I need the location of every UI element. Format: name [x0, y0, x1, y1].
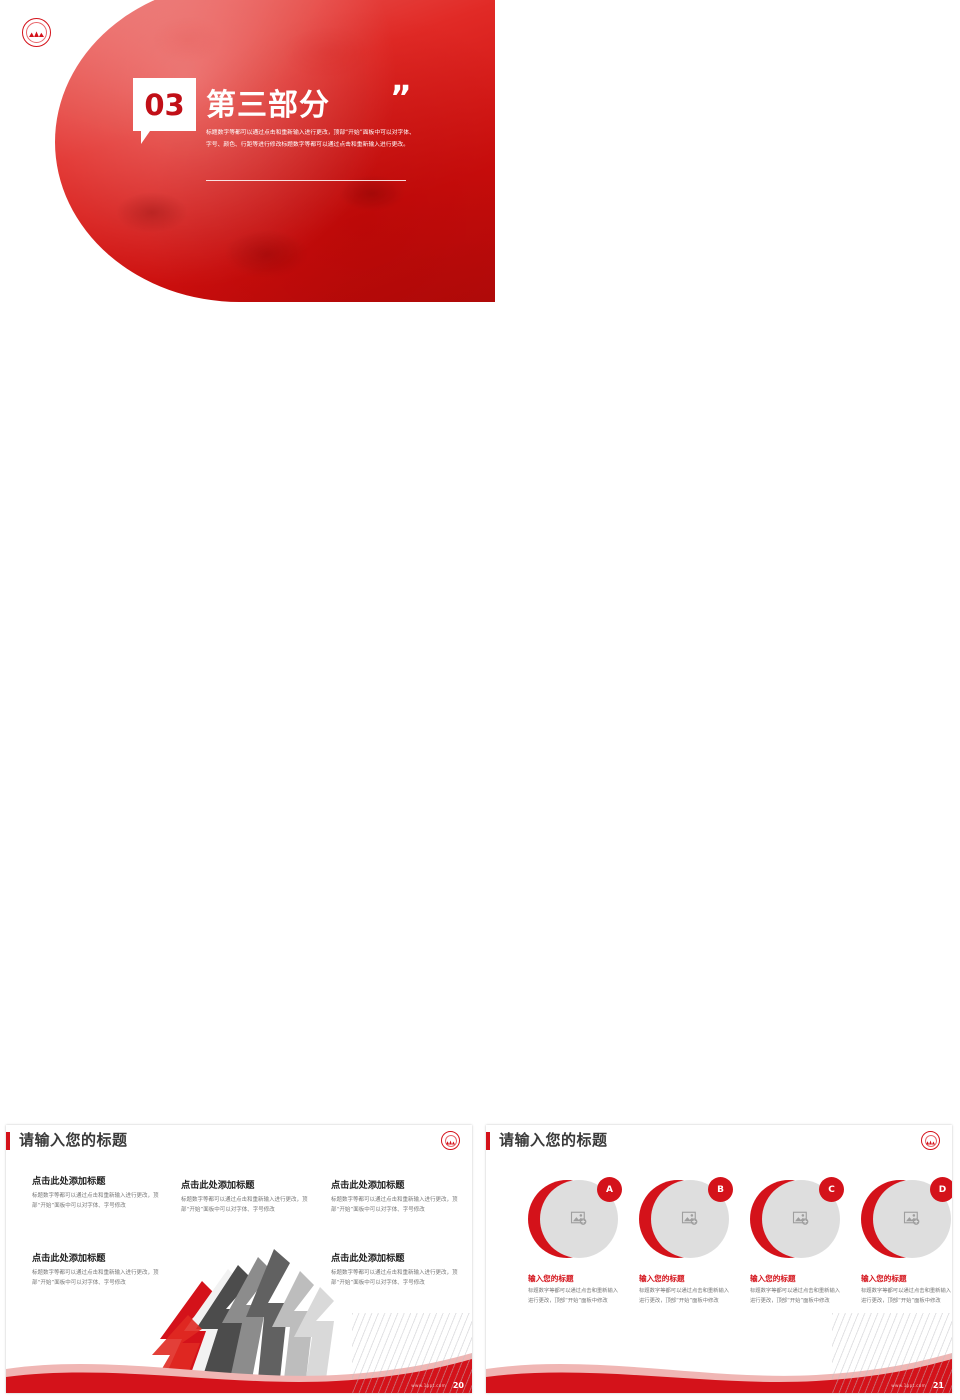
arrow-desc: 标题数字等都可以通过点击和重新输入进行更改，顶部“开始”面板中可以对字体、字号修…: [32, 1268, 160, 1288]
image-placeholder-icon: [903, 1210, 921, 1228]
badge-desc: 标题数字等都可以通过点击和重新输入进行更改，顶部“开始”面板中修改: [639, 1287, 731, 1306]
image-placeholder-icon: [681, 1210, 699, 1228]
slide-cell-21: 请输入您的标题 A输入您的标题标题数字等都可以通过点击和重新输入进行更改，顶部“…: [480, 1120, 960, 1400]
slide-header: 请输入您的标题: [6, 1125, 472, 1163]
page-number: 21: [933, 1381, 944, 1390]
badge-title: 输入您的标题: [528, 1273, 624, 1284]
badge-desc: 标题数字等都可以通过点击和重新输入进行更改，顶部“开始”面板中修改: [861, 1287, 952, 1306]
arrow-desc: 标题数字等都可以通过点击和重新输入进行更改，顶部“开始”面板中可以对字体、字号修…: [331, 1268, 459, 1288]
badge-letter: A: [597, 1177, 622, 1202]
slide-21[interactable]: 请输入您的标题 A输入您的标题标题数字等都可以通过点击和重新输入进行更改，顶部“…: [486, 1125, 952, 1393]
arrow-title: 点击此处添加标题: [331, 1250, 459, 1264]
arrow-title: 点击此处添加标题: [32, 1250, 160, 1264]
badge-letter: D: [930, 1177, 952, 1202]
page-title: 请输入您的标题: [19, 1129, 128, 1150]
footer-url: www.1ppt.com: [891, 1383, 926, 1388]
section-desc: 标题数字等都可以通过点击和重新输入进行更改，顶部“开始”面板中可以对字体、字号、…: [206, 128, 416, 151]
arrow-title: 点击此处添加标题: [32, 1173, 160, 1187]
university-emblem-icon: [22, 18, 51, 47]
arrow-title: 点击此处添加标题: [181, 1177, 309, 1191]
slide-deck: 请输入您的标题 点击此处添加标题 标题数字等都可以通过点击和重新输入进行更改 0…: [0, 0, 960, 1400]
badge-circle-A[interactable]: A: [528, 1177, 624, 1263]
title-accent-bar: [6, 1132, 10, 1150]
arrow-desc: 标题数字等都可以通过点击和重新输入进行更改，顶部“开始”面板中可以对字体、字号修…: [331, 1195, 459, 1215]
arrow-item-4[interactable]: 点击此处添加标题 标题数字等都可以通过点击和重新输入进行更改，顶部“开始”面板中…: [32, 1250, 160, 1288]
slide-header: 请输入您的标题: [486, 1125, 952, 1163]
badge-letter: B: [708, 1177, 733, 1202]
arrow-item-2[interactable]: 点击此处添加标题 标题数字等都可以通过点击和重新输入进行更改，顶部“开始”面板中…: [181, 1177, 309, 1215]
arrow-desc: 标题数字等都可以通过点击和重新输入进行更改，顶部“开始”面板中可以对字体、字号修…: [32, 1191, 160, 1211]
university-emblem-icon: [441, 1131, 460, 1150]
slide-20[interactable]: 请输入您的标题 点击此处添加标题 标题数字等都可以通过点击和重新输入进行更改，顶…: [6, 1125, 472, 1393]
page-title: 请输入您的标题: [499, 1129, 608, 1150]
slide-cell-19: 03 第三部分 ” 标题数字等都可以通过点击和重新输入进行更改，顶部“开始”面板…: [480, 840, 960, 1120]
section-number-box: 03: [133, 78, 196, 131]
section-heading: 第三部分: [206, 80, 330, 124]
image-placeholder-icon: [570, 1210, 588, 1228]
quote-mark-icon: ”: [390, 78, 412, 117]
section-divider-line: [206, 180, 406, 181]
page-number: 20: [453, 1381, 464, 1390]
section-number: 03: [133, 78, 196, 131]
arrow-desc: 标题数字等都可以通过点击和重新输入进行更改，顶部“开始”面板中可以对字体、字号修…: [181, 1195, 309, 1215]
slide-cell-20: 请输入您的标题 点击此处添加标题 标题数字等都可以通过点击和重新输入进行更改，顶…: [0, 1120, 480, 1400]
image-placeholder-icon: [792, 1210, 810, 1228]
badge-title: 输入您的标题: [750, 1273, 846, 1284]
footer-url: www.1ppt.com: [411, 1383, 446, 1388]
badge-circle-B[interactable]: B: [639, 1177, 735, 1263]
badge-letter: C: [819, 1177, 844, 1202]
badge-circle-D[interactable]: D: [861, 1177, 952, 1263]
badge-title: 输入您的标题: [639, 1273, 735, 1284]
footer-wave: [486, 1347, 952, 1393]
arrow-item-3[interactable]: 点击此处添加标题 标题数字等都可以通过点击和重新输入进行更改，顶部“开始”面板中…: [331, 1177, 459, 1215]
arrow-title: 点击此处添加标题: [331, 1177, 459, 1191]
arrow-item-1[interactable]: 点击此处添加标题 标题数字等都可以通过点击和重新输入进行更改，顶部“开始”面板中…: [32, 1173, 160, 1211]
badge-desc: 标题数字等都可以通过点击和重新输入进行更改，顶部“开始”面板中修改: [750, 1287, 842, 1306]
title-accent-bar: [486, 1132, 490, 1150]
badge-desc: 标题数字等都可以通过点击和重新输入进行更改，顶部“开始”面板中修改: [528, 1287, 620, 1306]
arrow-item-5[interactable]: 点击此处添加标题 标题数字等都可以通过点击和重新输入进行更改，顶部“开始”面板中…: [331, 1250, 459, 1288]
badge-title: 输入您的标题: [861, 1273, 952, 1284]
university-emblem-icon: [921, 1131, 940, 1150]
badge-circle-C[interactable]: C: [750, 1177, 846, 1263]
upward-arrows-graphic: [6, 1219, 472, 1379]
